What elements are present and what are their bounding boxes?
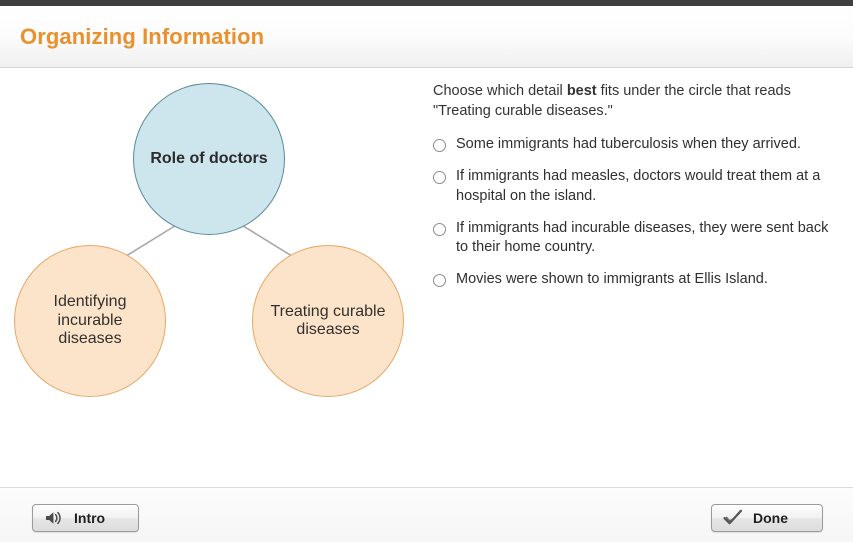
answer-option-4[interactable]: Movies were shown to immigrants at Ellis… [433,270,837,289]
diagram-node-root[interactable]: Role of doctors [133,83,285,235]
done-button[interactable]: Done [711,504,823,532]
page-header: Organizing Information [0,6,853,68]
diagram-node-root-label: Role of doctors [136,150,281,168]
intro-button-label: Intro [74,510,105,526]
answer-option-3-label: If immigrants had incurable diseases, th… [456,219,837,258]
footer-toolbar: Intro Done [0,487,853,542]
page-title: Organizing Information [20,24,264,50]
radio-button-icon[interactable] [433,171,446,184]
question-prompt: Choose which detail best fits under the … [433,81,837,121]
checkmark-icon [722,508,744,528]
radio-button-icon[interactable] [433,139,446,152]
radio-button-icon[interactable] [433,223,446,236]
prompt-emphasis: best [567,83,597,99]
intro-button[interactable]: Intro [32,504,139,532]
radio-button-icon[interactable] [433,274,446,287]
answer-option-1[interactable]: Some immigrants had tuberculosis when th… [433,135,837,154]
answer-option-4-label: Movies were shown to immigrants at Ellis… [456,270,837,289]
answer-option-2[interactable]: If immigrants had measles, doctors would… [433,167,837,206]
diagram-node-treating-curable[interactable]: Treating curable diseases [252,245,404,397]
concept-map-diagram: Role of doctors Identifying incurable di… [0,69,425,487]
main-content: Role of doctors Identifying incurable di… [0,69,853,487]
diagram-node-identifying-incurable[interactable]: Identifying incurable diseases [14,245,166,397]
answer-option-1-label: Some immigrants had tuberculosis when th… [456,135,837,154]
prompt-part-1: Choose which detail [433,83,567,99]
answer-option-2-label: If immigrants had measles, doctors would… [456,167,837,206]
done-button-label: Done [753,510,788,526]
diagram-node-left-label: Identifying incurable diseases [15,293,165,348]
answer-option-3[interactable]: If immigrants had incurable diseases, th… [433,219,837,258]
speaker-icon [43,508,65,528]
diagram-node-right-label: Treating curable diseases [253,303,403,340]
question-panel: Choose which detail best fits under the … [433,81,837,303]
